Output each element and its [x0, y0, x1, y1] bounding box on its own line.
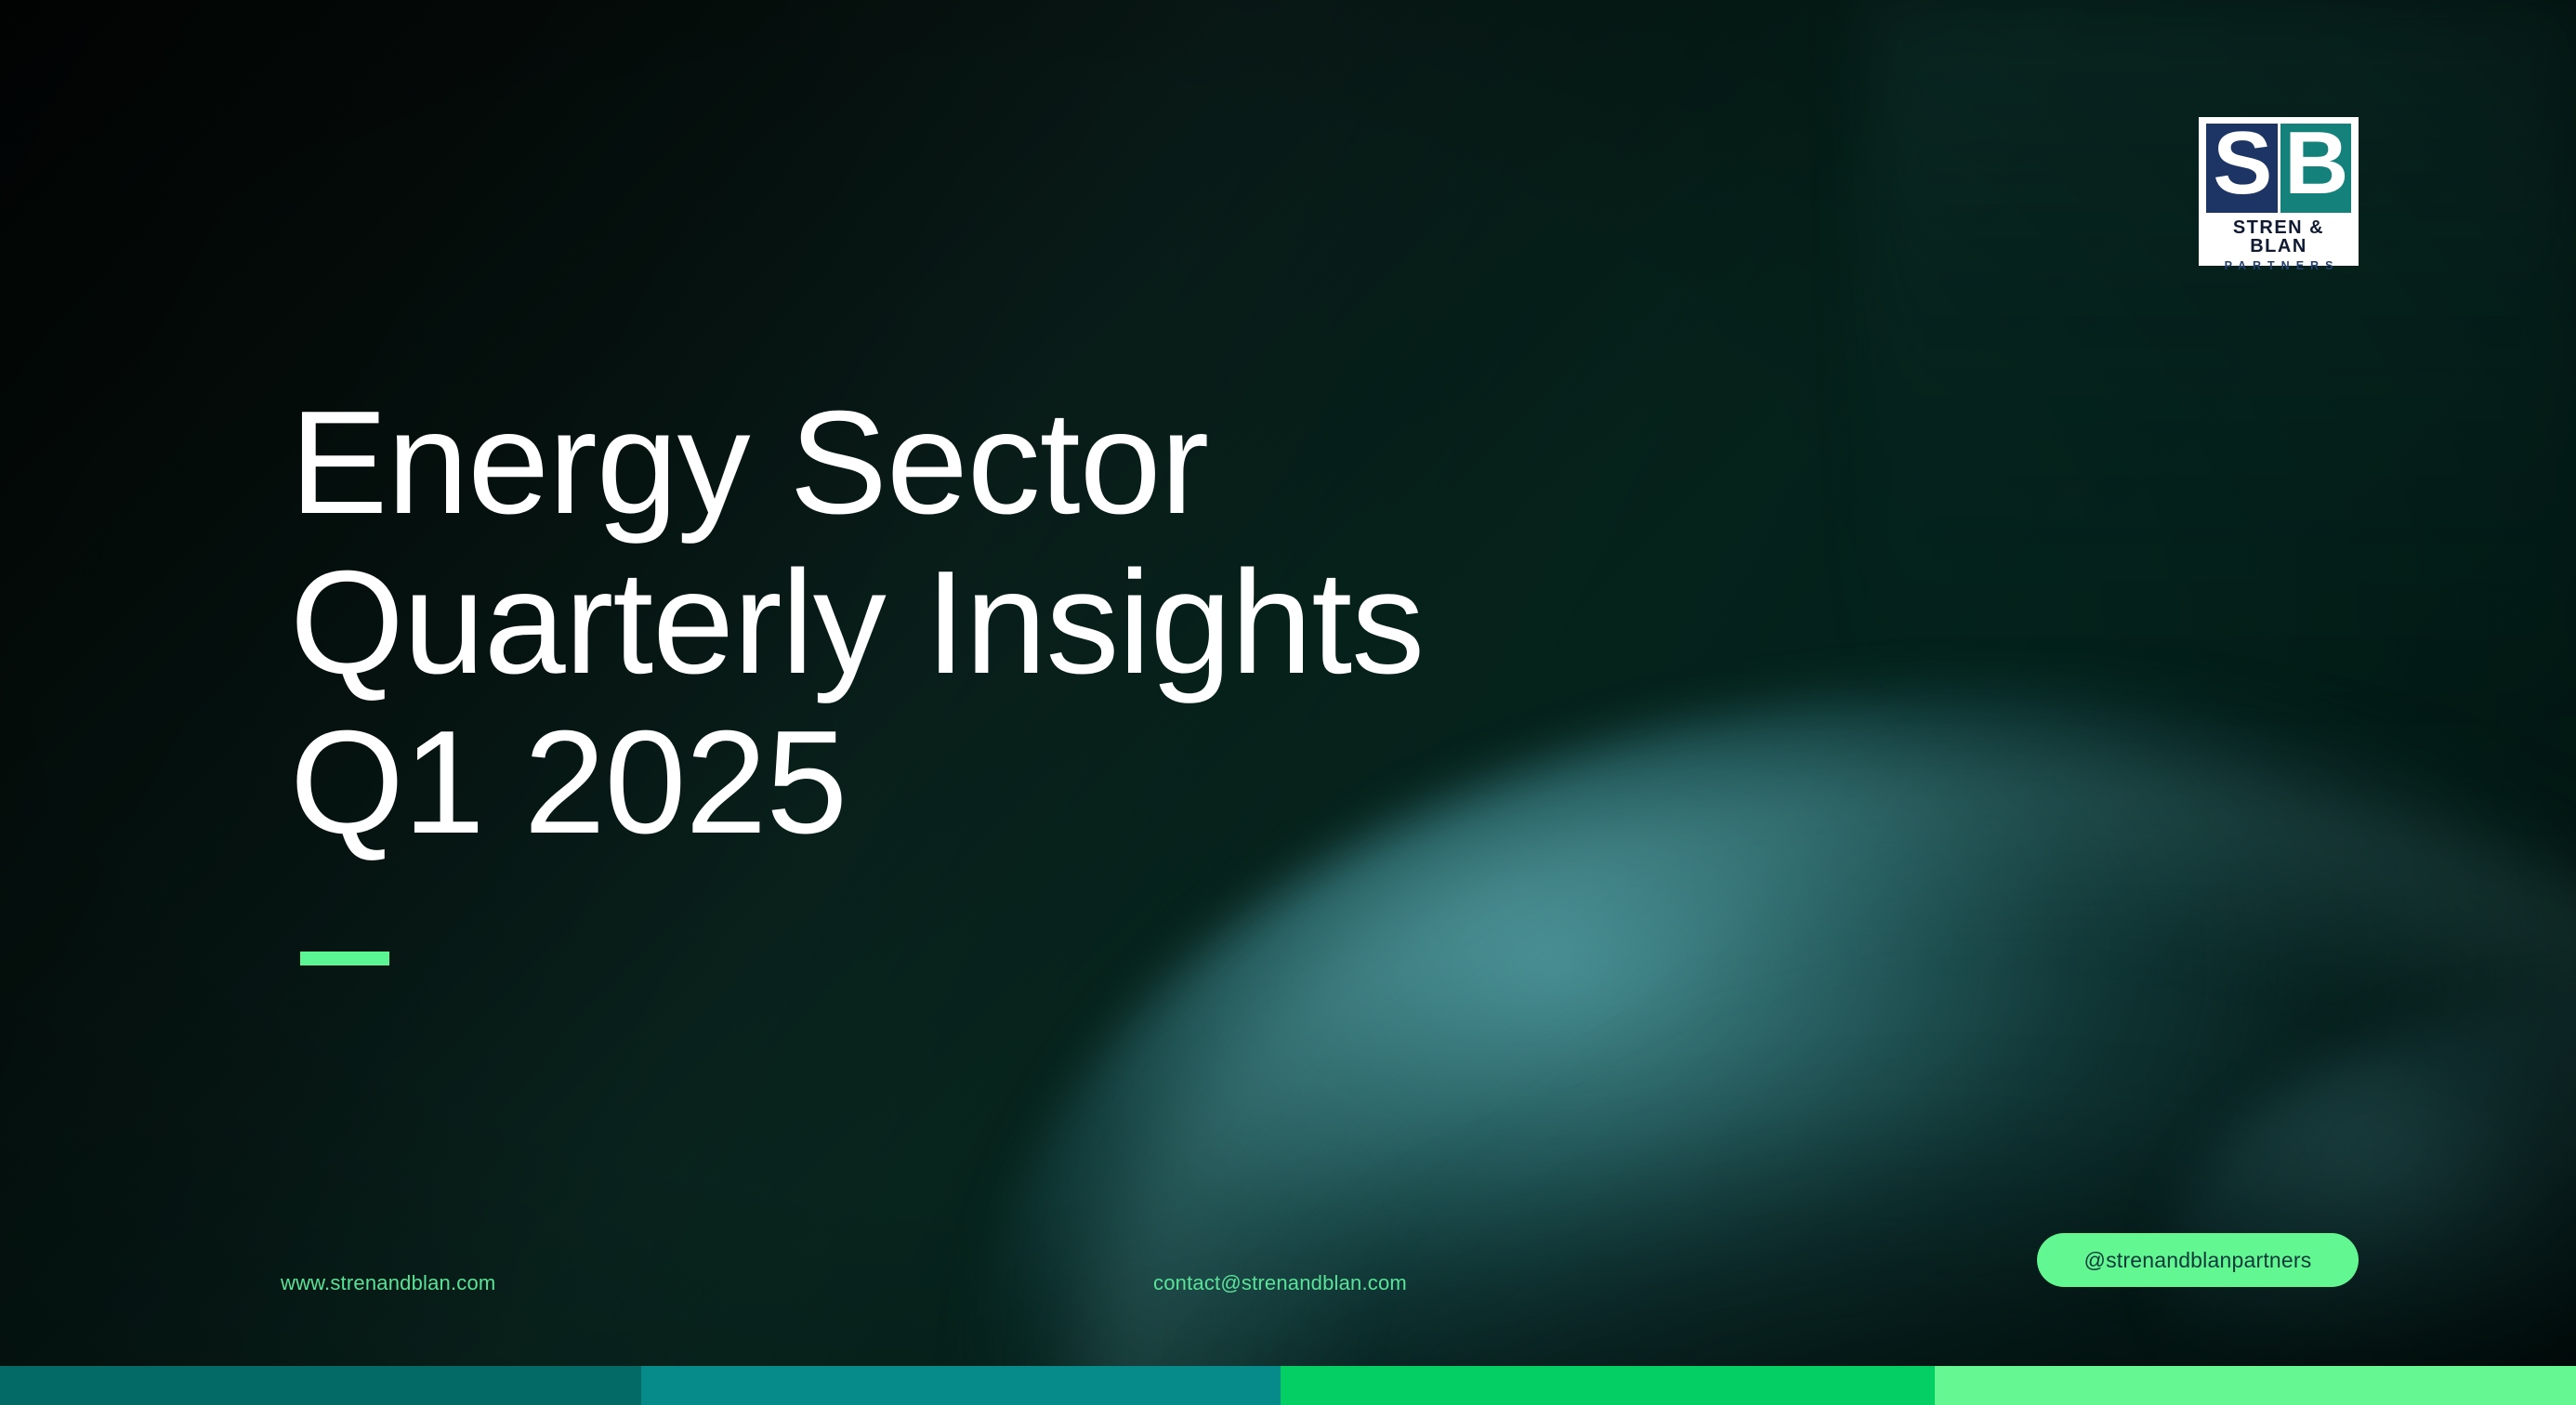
- bottom-bar-segment-4: [1935, 1366, 2576, 1405]
- social-handle-label: @strenandblanpartners: [2084, 1248, 2312, 1273]
- company-logo: S B STREN & BLAN PARTNERS: [2199, 117, 2359, 266]
- logo-letter-b: B: [2284, 119, 2346, 208]
- presentation-slide: S B STREN & BLAN PARTNERS Energy Sector …: [0, 0, 2576, 1405]
- footer-email-link[interactable]: contact@strenandblan.com: [1153, 1271, 1407, 1295]
- title-accent-dash: [300, 952, 389, 965]
- logo-letter-s: S: [2213, 119, 2270, 208]
- social-handle-badge[interactable]: @strenandblanpartners: [2037, 1233, 2359, 1287]
- bottom-bar-segment-2: [641, 1366, 1280, 1405]
- slide-title: Energy Sector Quarterly Insights Q1 2025: [290, 383, 1684, 862]
- logo-monogram: S B: [2206, 124, 2351, 213]
- logo-letter-s-tile: S: [2206, 124, 2278, 213]
- footer-website-link[interactable]: www.strenandblan.com: [281, 1271, 495, 1295]
- bottom-bar-segment-3: [1281, 1366, 1935, 1405]
- bottom-bar-segment-1: [0, 1366, 641, 1405]
- logo-company-subtitle: PARTNERS: [2206, 260, 2351, 272]
- logo-company-name: STREN & BLAN: [2206, 218, 2351, 256]
- bottom-color-bar: [0, 1366, 2576, 1405]
- logo-letter-b-tile: B: [2280, 124, 2352, 213]
